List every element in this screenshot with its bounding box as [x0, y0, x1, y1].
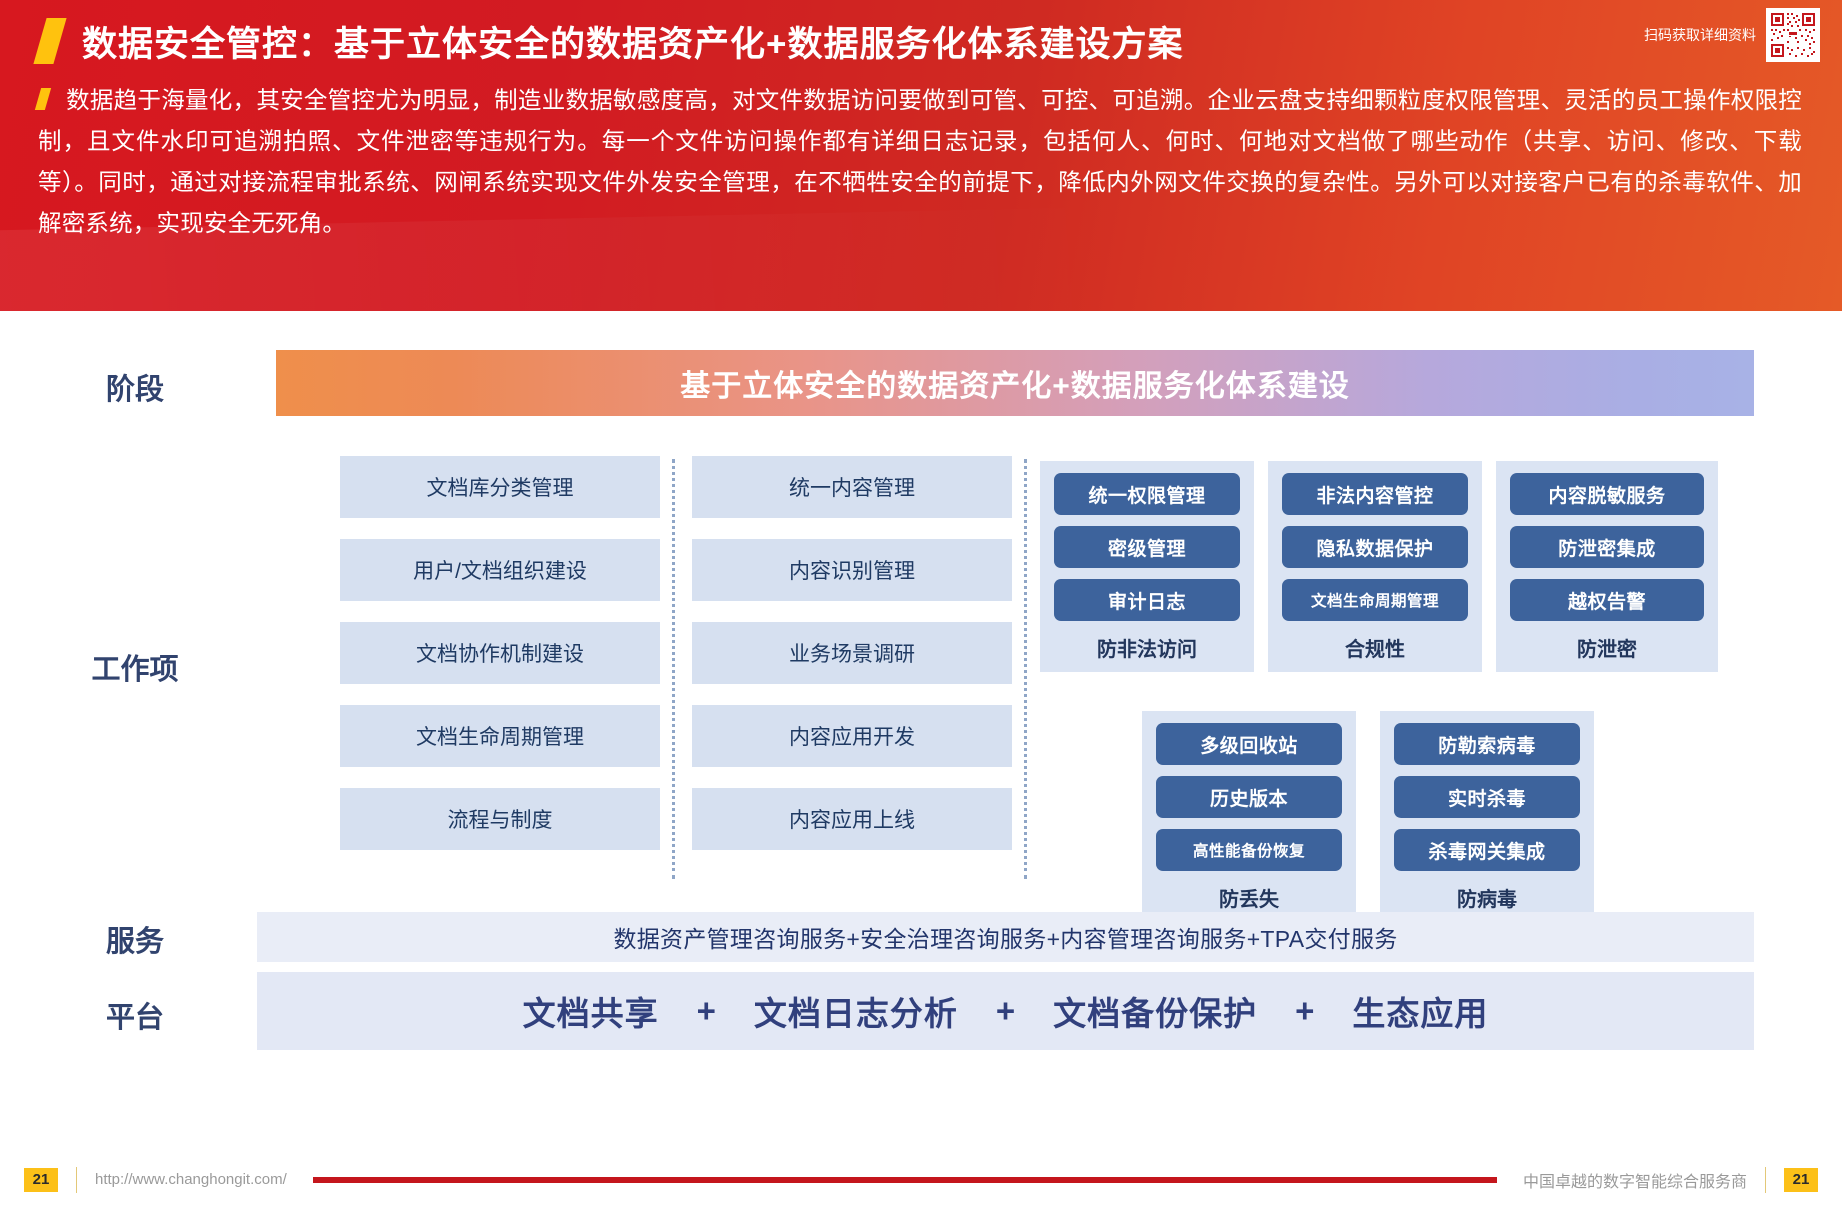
security-item[interactable]: 非法内容管控 — [1282, 473, 1468, 515]
page-number-left: 21 — [24, 1168, 58, 1192]
diagram-body: 阶段 基于立体安全的数据资产化+数据服务化体系建设 工作项 文档库分类管理 用户… — [0, 311, 1842, 1151]
security-group-anti-leak: 内容脱敏服务 防泄密集成 越权告警 防泄密 — [1496, 461, 1718, 672]
security-item[interactable]: 多级回收站 — [1156, 723, 1342, 765]
qr-caption: 扫码获取详细资料 — [1644, 25, 1756, 45]
title-row: 数据安全管控：基于立体安全的数据资产化+数据服务化体系建设方案 — [40, 10, 1183, 72]
row-label-stage: 阶段 — [40, 366, 230, 408]
header-body-text-content: 数据趋于海量化，其安全管控尤为明显，制造业数据敏感度高，对文件数据访问要做到可管… — [38, 87, 1802, 236]
footer-rule — [313, 1177, 1497, 1183]
security-item[interactable]: 审计日志 — [1054, 579, 1240, 621]
slide-footer: 21 http://www.changhongit.com/ 中国卓越的数字智能… — [0, 1151, 1842, 1208]
header-body-row: 数据趋于海量化，其安全管控尤为明显，制造业数据敏感度高，对文件数据访问要做到可管… — [38, 80, 1802, 244]
page-number-right: 21 — [1784, 1168, 1818, 1192]
security-item[interactable]: 内容脱敏服务 — [1510, 473, 1704, 515]
security-item[interactable]: 实时杀毒 — [1394, 776, 1580, 818]
platform-item[interactable]: 文档共享 — [523, 987, 659, 1035]
security-group-label: 防泄密 — [1510, 632, 1704, 664]
service-text: 数据资产管理咨询服务+安全治理咨询服务+内容管理咨询服务+TPA交付服务 — [613, 920, 1397, 954]
security-item[interactable]: 越权告警 — [1510, 579, 1704, 621]
workitem-column-1: 文档库分类管理 用户/文档组织建设 文档协作机制建设 文档生命周期管理 流程与制… — [340, 456, 660, 871]
security-item[interactable]: 防勒索病毒 — [1394, 723, 1580, 765]
security-group-label: 防非法访问 — [1054, 632, 1240, 664]
service-bar: 数据资产管理咨询服务+安全治理咨询服务+内容管理咨询服务+TPA交付服务 — [257, 912, 1754, 962]
page-title: 数据安全管控：基于立体安全的数据资产化+数据服务化体系建设方案 — [82, 16, 1183, 67]
security-item[interactable]: 高性能备份恢复 — [1156, 829, 1342, 871]
stage-bar: 基于立体安全的数据资产化+数据服务化体系建设 — [276, 350, 1754, 416]
workitem-box[interactable]: 用户/文档组织建设 — [340, 539, 660, 601]
footer-divider — [76, 1167, 77, 1193]
workitem-box[interactable]: 业务场景调研 — [692, 622, 1012, 684]
security-item[interactable]: 隐私数据保护 — [1282, 526, 1468, 568]
plus-icon: + — [697, 992, 716, 1030]
yellow-slash-small-icon — [35, 88, 51, 110]
security-group-compliance: 非法内容管控 隐私数据保护 文档生命周期管理 合规性 — [1268, 461, 1482, 672]
plus-icon: + — [1295, 992, 1314, 1030]
security-group-label: 防丢失 — [1156, 882, 1342, 914]
security-group-label: 防病毒 — [1394, 882, 1580, 914]
security-item[interactable]: 文档生命周期管理 — [1282, 579, 1468, 621]
slide-root: 数据安全管控：基于立体安全的数据资产化+数据服务化体系建设方案 扫码获取详细资料 — [0, 0, 1842, 1208]
row-label-platform: 平台 — [40, 994, 230, 1036]
workitem-box[interactable]: 文档库分类管理 — [340, 456, 660, 518]
security-group-illegal-access: 统一权限管理 密级管理 审计日志 防非法访问 — [1040, 461, 1254, 672]
security-group-anti-loss: 多级回收站 历史版本 高性能备份恢复 防丢失 — [1142, 711, 1356, 922]
yellow-slash-icon — [33, 18, 66, 64]
platform-item[interactable]: 生态应用 — [1352, 987, 1488, 1035]
workitem-box[interactable]: 文档生命周期管理 — [340, 705, 660, 767]
header-body-text: 数据趋于海量化，其安全管控尤为明显，制造业数据敏感度高，对文件数据访问要做到可管… — [38, 80, 1802, 244]
security-item[interactable]: 统一权限管理 — [1054, 473, 1240, 515]
row-label-workitems: 工作项 — [40, 646, 230, 688]
footer-url[interactable]: http://www.changhongit.com/ — [95, 1171, 287, 1188]
security-item[interactable]: 杀毒网关集成 — [1394, 829, 1580, 871]
workitem-box[interactable]: 流程与制度 — [340, 788, 660, 850]
column-divider — [1024, 459, 1027, 879]
security-group-label: 合规性 — [1282, 632, 1468, 664]
footer-slogan: 中国卓越的数字智能综合服务商 — [1523, 1168, 1747, 1192]
platform-item[interactable]: 文档备份保护 — [1053, 987, 1257, 1035]
workitem-box[interactable]: 内容应用上线 — [692, 788, 1012, 850]
row-label-service: 服务 — [40, 918, 230, 960]
footer-divider — [1765, 1167, 1766, 1193]
slide-header: 数据安全管控：基于立体安全的数据资产化+数据服务化体系建设方案 扫码获取详细资料 — [0, 0, 1842, 311]
qr-block: 扫码获取详细资料 — [1644, 8, 1820, 62]
workitem-box[interactable]: 内容识别管理 — [692, 539, 1012, 601]
workitem-box[interactable]: 内容应用开发 — [692, 705, 1012, 767]
stage-bar-text: 基于立体安全的数据资产化+数据服务化体系建设 — [680, 361, 1350, 405]
plus-icon: + — [996, 992, 1015, 1030]
qr-code-icon[interactable] — [1766, 8, 1820, 62]
security-item[interactable]: 防泄密集成 — [1510, 526, 1704, 568]
workitem-box[interactable]: 文档协作机制建设 — [340, 622, 660, 684]
workitem-column-2: 统一内容管理 内容识别管理 业务场景调研 内容应用开发 内容应用上线 — [692, 456, 1012, 871]
security-group-antivirus: 防勒索病毒 实时杀毒 杀毒网关集成 防病毒 — [1380, 711, 1594, 922]
column-divider — [672, 459, 675, 879]
platform-bar: 文档共享 + 文档日志分析 + 文档备份保护 + 生态应用 — [257, 972, 1754, 1050]
platform-item[interactable]: 文档日志分析 — [754, 987, 958, 1035]
security-item[interactable]: 密级管理 — [1054, 526, 1240, 568]
security-item[interactable]: 历史版本 — [1156, 776, 1342, 818]
workitem-box[interactable]: 统一内容管理 — [692, 456, 1012, 518]
